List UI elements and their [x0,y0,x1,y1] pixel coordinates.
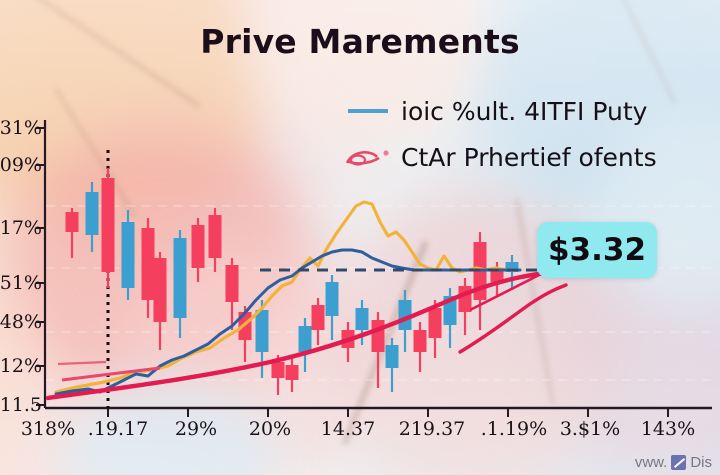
candle-body [256,310,269,352]
x-tick-label-5: 219.37 [399,418,465,440]
x-tick-label-0: 318% [21,418,75,440]
candle-body [386,345,399,368]
candle-body [226,265,239,302]
x-tick-label-2: 29% [175,418,217,440]
y-tick-label-3: .51% [0,272,42,294]
candle-body [326,282,339,316]
x-tick-label-6: .1.19% [481,418,547,440]
candle-body [122,222,135,288]
candle-body [272,362,285,378]
candle-body [429,308,442,338]
x-tick-label-1: .19.17 [88,418,148,440]
candle-body [209,215,222,258]
candle-body [414,330,427,352]
candle-body [102,178,115,272]
candle-body [192,225,205,268]
candle-body [174,238,187,318]
x-tick-label-8: 143% [641,418,695,440]
price-badge[interactable]: $3.32 [537,222,657,278]
candle-body [356,308,369,330]
y-tick-label-6: 11.5 [0,394,42,416]
y-tick-label-1: 109% [0,154,42,176]
x-tick-label-7: 3.$1% [560,418,620,440]
x-tick-label-4: 14.37 [321,418,375,440]
candle-body [154,258,167,322]
candle-body [66,212,79,232]
candle-body [142,228,155,300]
short-trend-marks [58,362,160,380]
watermark-text: vww. [635,454,668,471]
y-tick-label-0: .31% [0,117,42,139]
candle-body [286,365,299,380]
x-axis-labels: 318% .19.17 29% 20% 14.37 219.37 .1.19% … [0,418,720,452]
x-tick-label-3: 20% [249,418,291,440]
chart-screenshot: Prive Marements ioic %ult. 4ITFI Puty Ct… [0,0,720,475]
candle-body [299,326,312,352]
y-tick-label-2: .17% [0,217,42,239]
y-axis-labels: .31% 109% .17% .51% 48% ..12% 11.5 [0,0,42,475]
y-tick-label-5: ..12% [0,355,42,377]
watermark: vww. Dis [635,454,712,471]
watermark-text-2: Dis [690,454,712,471]
price-badge-value: $3.32 [548,232,646,268]
candle-body [372,320,385,352]
chart-square-icon [671,455,686,470]
candle-body [312,305,325,330]
candle-body [86,192,99,235]
y-tick-label-4: 48% [0,311,42,333]
